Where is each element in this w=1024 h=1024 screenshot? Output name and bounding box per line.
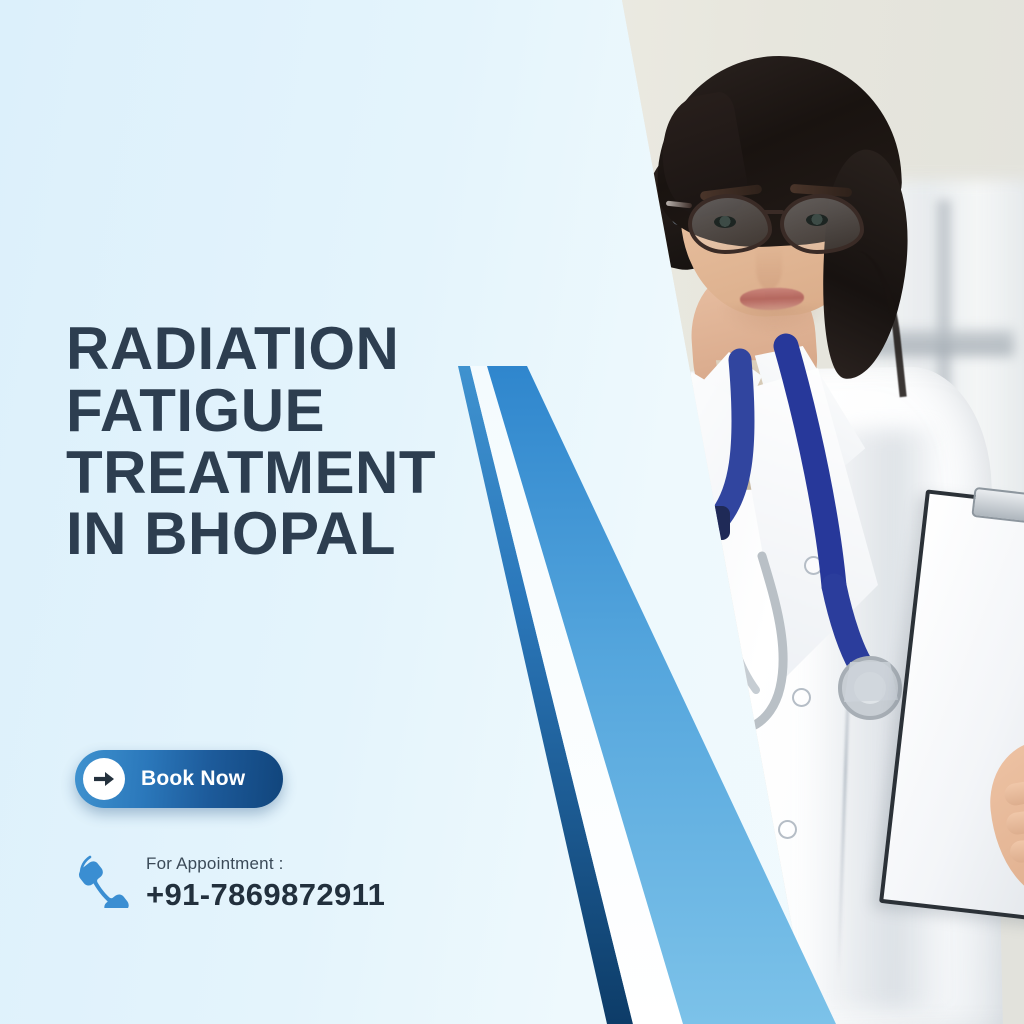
promo-banner: RADIATION FATIGUE TREATMENT IN BHOPAL Bo… [0, 0, 1024, 1024]
headline-line-2: FATIGUE [66, 380, 466, 442]
doctor-photo [504, 0, 1024, 1024]
coat-button [792, 688, 811, 707]
coat-button [804, 556, 823, 575]
clipboard-clip [971, 487, 1024, 526]
fingernail [705, 902, 742, 943]
eye-right [806, 214, 828, 226]
eye-left [714, 216, 736, 228]
stripe-thin [458, 366, 633, 1024]
coat-button [778, 820, 797, 839]
glasses-bridge [762, 210, 784, 214]
coat-pocket [543, 909, 731, 1024]
book-now-label: Book Now [141, 767, 245, 791]
arrow-right-icon [83, 758, 125, 800]
headline-line-1: RADIATION [66, 318, 466, 380]
appointment-block[interactable]: For Appointment : +91-7869872911 [74, 852, 385, 913]
nose [756, 246, 782, 290]
hand-in-pocket [556, 855, 712, 956]
appointment-label: For Appointment : [146, 855, 385, 872]
headline-line-3: TREATMENT [66, 442, 466, 504]
appointment-phone[interactable]: +91-7869872911 [146, 879, 385, 910]
book-now-button[interactable]: Book Now [75, 750, 283, 808]
thumb [651, 890, 727, 940]
stripe-gap [470, 366, 683, 1024]
page-title: RADIATION FATIGUE TREATMENT IN BHOPAL [66, 318, 466, 565]
chin-shadow [718, 306, 830, 336]
phone-icon [74, 852, 132, 913]
coat-button [768, 952, 787, 971]
headline-line-4: IN BHOPAL [66, 503, 466, 565]
